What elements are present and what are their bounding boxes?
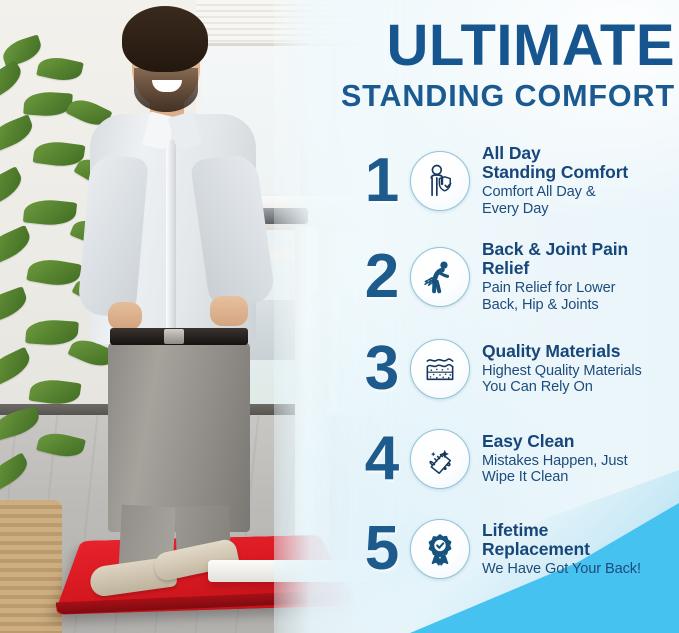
wicker-pot [0, 500, 62, 633]
feature-number: 4 [360, 428, 404, 490]
feature-item-easy-clean: 4 Easy Clean Mistakes Happen, Just [360, 414, 679, 504]
feature-title: Quality Materials [482, 342, 679, 361]
hair [122, 6, 208, 72]
person-shield-icon [410, 151, 470, 211]
feature-number: 3 [360, 338, 404, 400]
feature-title: All Day Standing Comfort [482, 144, 679, 182]
feature-item-all-day-standing-comfort: 1 All Day Standing Comfort Comfort All D… [360, 132, 679, 230]
back-pain-person-icon [410, 247, 470, 307]
belt-buckle [164, 329, 184, 344]
hand-right [210, 296, 248, 326]
feature-text: Back & Joint Pain Relief Pain Relief for… [482, 240, 679, 313]
feature-subtitle-line-2: You Can Rely On [482, 379, 679, 396]
feature-title-line-2: Relief [482, 259, 679, 278]
feature-text: Quality Materials Highest Quality Materi… [482, 342, 679, 396]
feature-title-line-1: Easy Clean [482, 432, 679, 451]
product-infographic: ULTIMATE STANDING COMFORT 1 All Day Stan… [0, 0, 679, 633]
feature-number: 1 [360, 150, 404, 212]
feature-text: Lifetime Replacement We Have Got Your Ba… [482, 521, 679, 577]
feature-list: 1 All Day Standing Comfort Comfort All D… [360, 132, 679, 594]
feature-subtitle-line-2: Every Day [482, 201, 679, 218]
feature-subtitle-line-1: Mistakes Happen, Just [482, 453, 679, 470]
hand-left [108, 302, 142, 330]
headline-line-1: ULTIMATE [290, 18, 675, 74]
feature-subtitle-line-1: Comfort All Day & [482, 184, 679, 201]
feature-title: Easy Clean [482, 432, 679, 451]
feature-item-lifetime-replacement: 5 Lifetime Replacement We Have Got Your … [360, 504, 679, 594]
shirt-placket [166, 140, 176, 340]
feature-subtitle: Highest Quality Materials You Can Rely O… [482, 363, 679, 396]
feature-text: All Day Standing Comfort Comfort All Day… [482, 144, 679, 217]
feature-subtitle-line-1: We Have Got Your Back! [482, 561, 679, 578]
feature-title-line-1: Back & Joint Pain [482, 240, 679, 259]
feature-title: Back & Joint Pain Relief [482, 240, 679, 278]
hand-wipe-sparkle-icon [410, 429, 470, 489]
feature-subtitle-line-2: Back, Hip & Joints [482, 297, 679, 314]
feature-subtitle: We Have Got Your Back! [482, 561, 679, 578]
feature-title-line-1: Quality Materials [482, 342, 679, 361]
feature-title-line-2: Standing Comfort [482, 163, 679, 182]
feature-text: Easy Clean Mistakes Happen, Just Wipe It… [482, 432, 679, 486]
feature-number: 2 [360, 246, 404, 308]
feature-subtitle: Pain Relief for Lower Back, Hip & Joints [482, 280, 679, 313]
feature-subtitle-line-2: Wipe It Clean [482, 469, 679, 486]
standing-man [72, 6, 302, 606]
page-title: ULTIMATE STANDING COMFORT [290, 18, 675, 115]
feature-subtitle-line-1: Highest Quality Materials [482, 363, 679, 380]
feature-subtitle: Comfort All Day & Every Day [482, 184, 679, 217]
award-badge-check-icon [410, 519, 470, 579]
feature-item-quality-materials: 3 [360, 324, 679, 414]
foam-layers-icon [410, 339, 470, 399]
trousers [108, 342, 250, 532]
headline-line-2: STANDING COMFORT [290, 78, 675, 115]
feature-title-line-1: All Day [482, 144, 679, 163]
feature-title-line-2: Replacement [482, 540, 679, 559]
feature-number: 5 [360, 518, 404, 580]
feature-item-back-joint-pain-relief: 2 Back & Joint Pain Relief [360, 230, 679, 324]
feature-subtitle: Mistakes Happen, Just Wipe It Clean [482, 453, 679, 486]
feature-title: Lifetime Replacement [482, 521, 679, 559]
feature-title-line-1: Lifetime [482, 521, 679, 540]
feature-subtitle-line-1: Pain Relief for Lower [482, 280, 679, 297]
